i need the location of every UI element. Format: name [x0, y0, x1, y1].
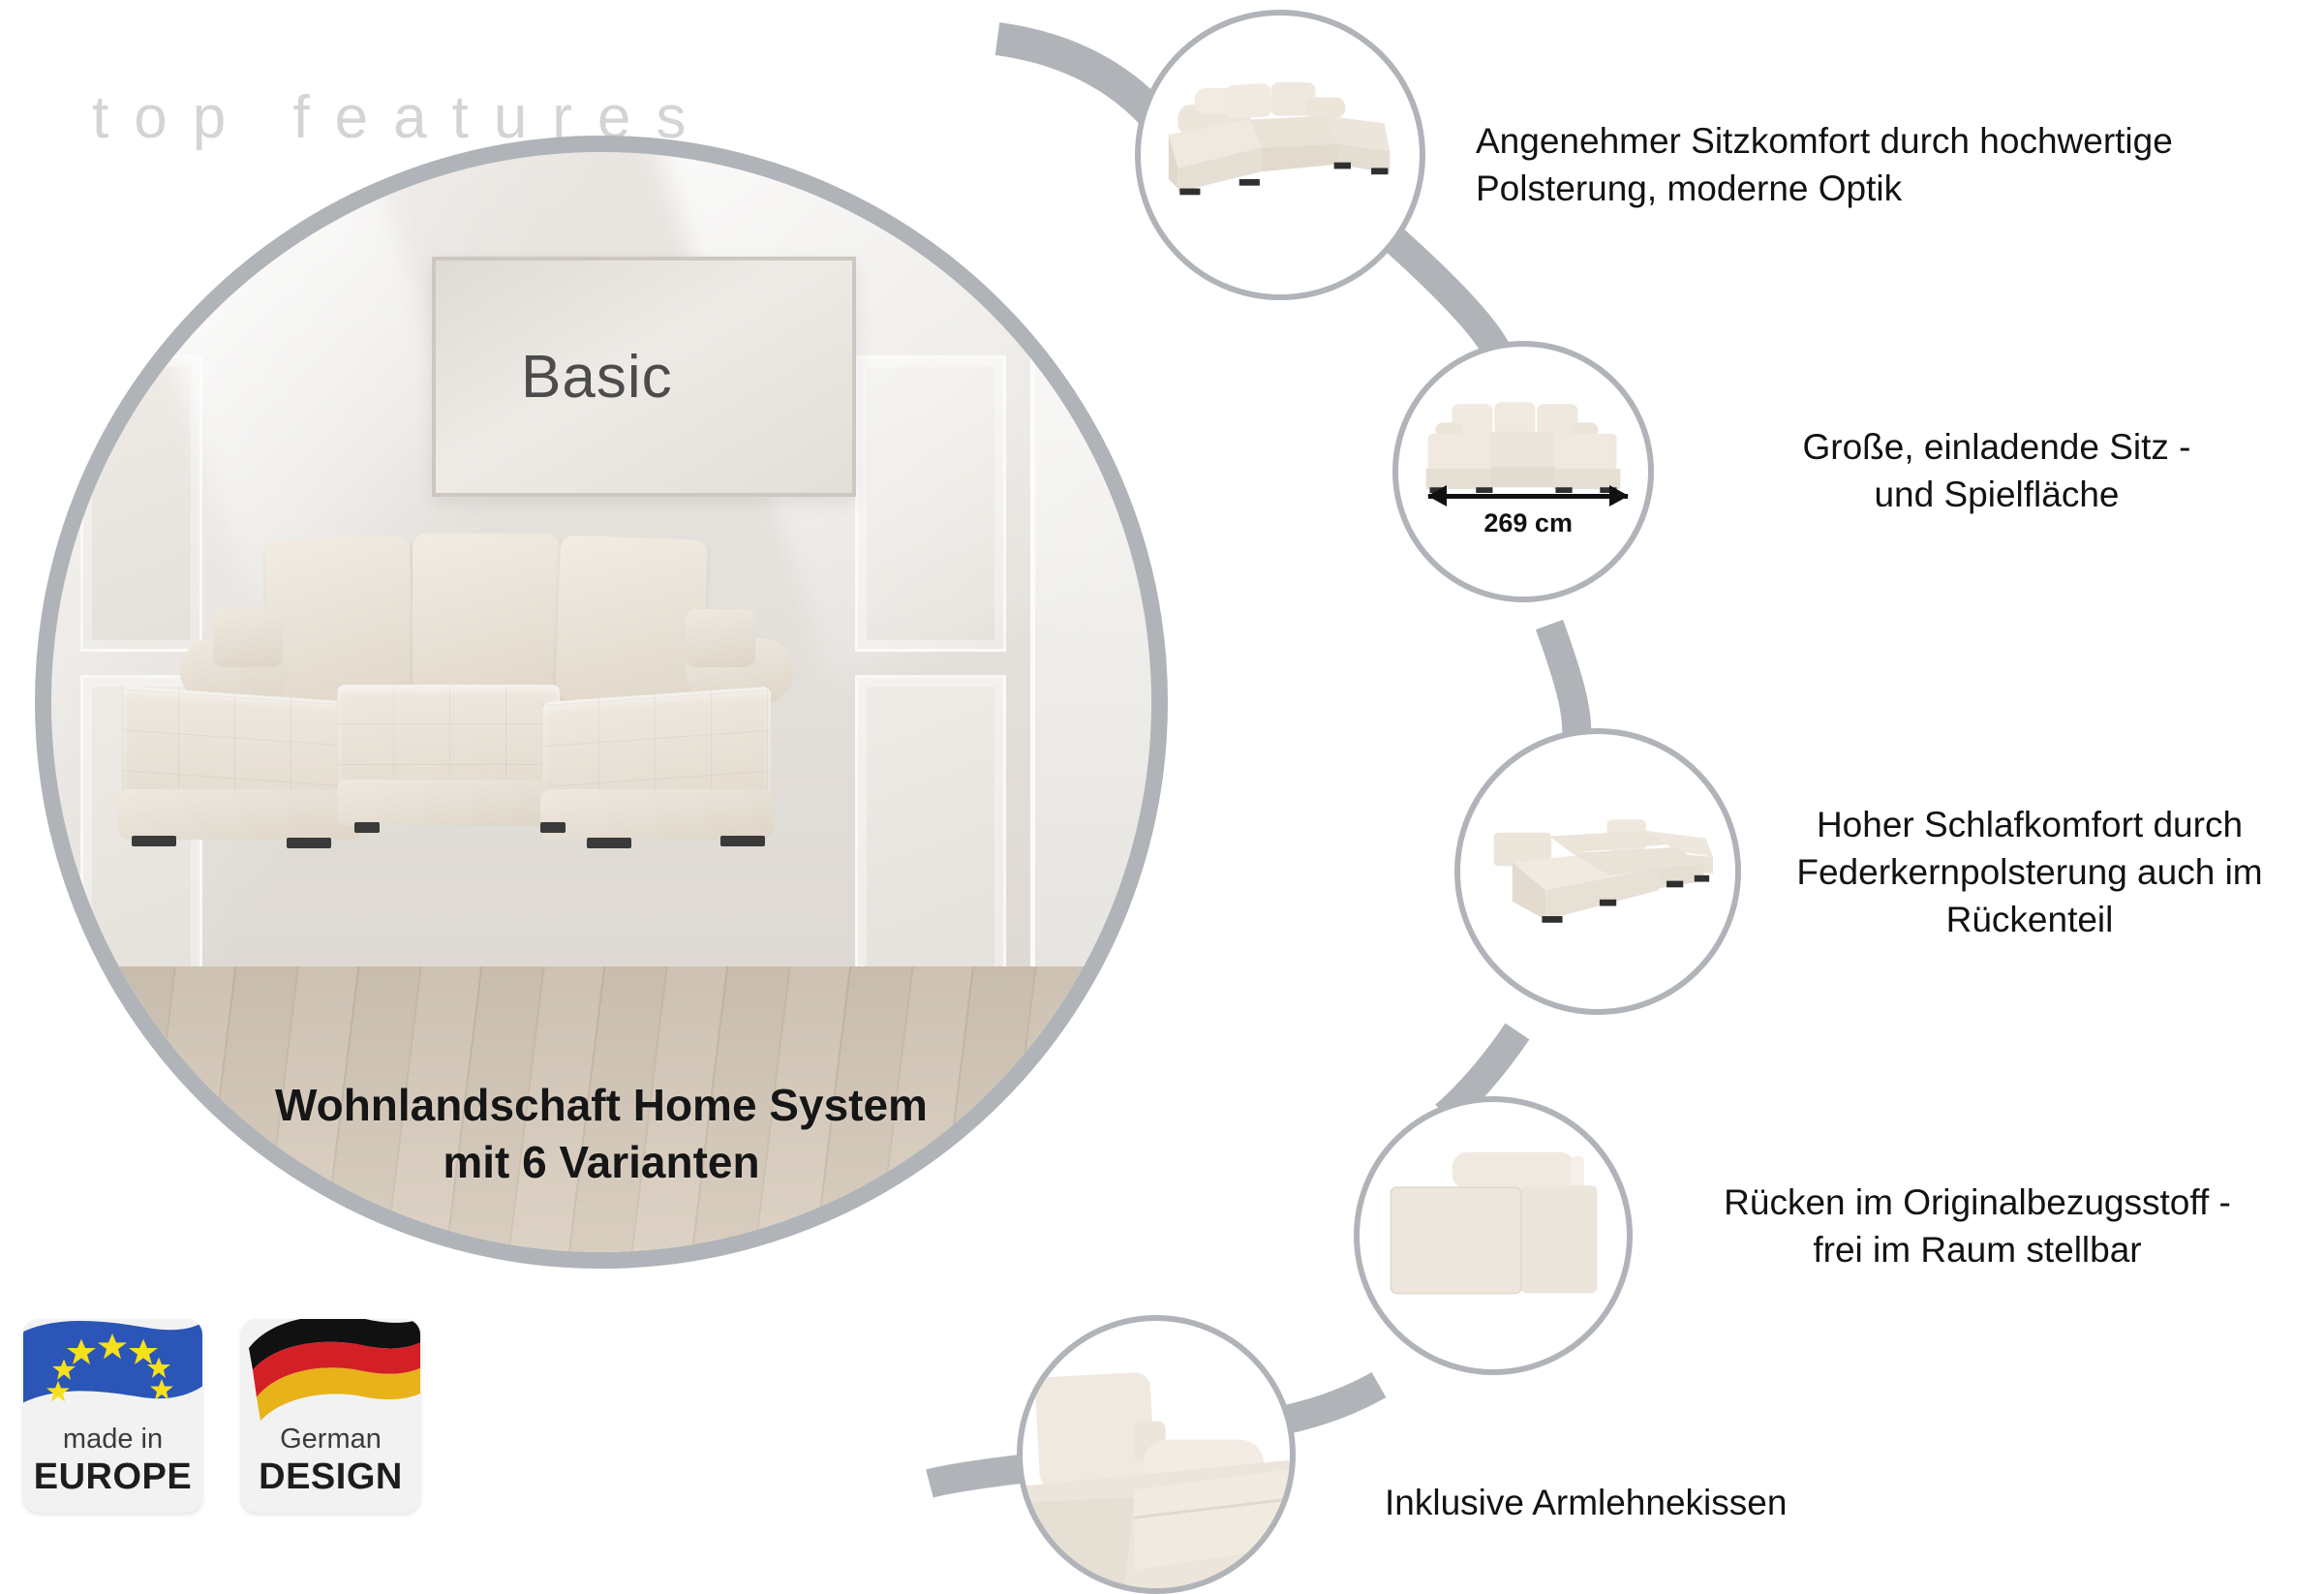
sofa-front-view-thumb: [1398, 347, 1648, 597]
feature-text-schlafkomfort: Hoher Schlafkomfort durch Federkernpolst…: [1749, 802, 2310, 943]
badge-line-1: made in: [23, 1424, 202, 1456]
sofa-foot: [132, 836, 176, 846]
de-flag-icon: [241, 1319, 420, 1424]
sofa-foot: [354, 822, 380, 833]
sofa-base: [540, 789, 773, 840]
feature-circle-sitzflaeche[interactable]: 269 cm: [1392, 341, 1654, 602]
hero-title-line-2: mit 6 Varianten: [51, 1134, 1151, 1191]
sofa-u-shape-angled-thumb: [1141, 15, 1420, 294]
certification-badges: made in EUROPE German DESIGN: [23, 1319, 420, 1513]
wall-panel: [855, 675, 1006, 1000]
dimension-label: 269 cm: [1428, 508, 1628, 538]
hero-product-title: Wohnlandschaft Home System mit 6 Variant…: [51, 1077, 1151, 1191]
feature-circle-armlehnekissen[interactable]: [1017, 1315, 1296, 1594]
art-label: Basic: [521, 343, 673, 412]
badge-line-2: DESIGN: [241, 1456, 420, 1498]
hero-scene: Basic: [51, 152, 1151, 1252]
connector-2-3: [1549, 625, 1576, 738]
sofa-foot: [587, 838, 631, 848]
sofa-base: [337, 780, 558, 826]
badge-made-in-europe: made in EUROPE: [23, 1319, 202, 1513]
feature-circle-sitzkomfort[interactable]: [1135, 10, 1425, 300]
arm-rest: [686, 609, 755, 667]
feature-text-sitzflaeche: Große, einladende Sitz - und Spielfläche: [1697, 424, 2297, 519]
dimension-arrow-icon: [1428, 494, 1628, 499]
wall-art-frame: Basic: [432, 257, 856, 497]
back-cushion: [413, 534, 560, 700]
sofa-foot: [287, 838, 331, 848]
hero-sofa: [105, 530, 763, 849]
feature-text-sitzkomfort: Angenehmer Sitzkomfort durch hochwertige…: [1476, 118, 2289, 213]
badge-line-1: German: [241, 1424, 420, 1456]
sofa-bed-extended-thumb: [1460, 734, 1735, 1009]
feature-text-ruecken: Rücken im Originalbezugsstoff - frei im …: [1658, 1180, 2297, 1274]
badge-line-2: EUROPE: [23, 1456, 202, 1498]
sofa-foot: [540, 822, 566, 833]
badge-german-design: German DESIGN: [241, 1319, 420, 1513]
feature-circle-ruecken[interactable]: [1354, 1096, 1633, 1375]
poster-canvas: top features Basic: [0, 0, 2324, 1593]
sofa-foot: [720, 836, 765, 846]
sofa-armrest-cushion-thumb: [1023, 1321, 1290, 1588]
dimension-annotation: 269 cm: [1428, 494, 1628, 538]
feature-text-armlehnekissen: Inklusive Armlehnekissen: [1385, 1480, 2063, 1527]
sofa-back-view-thumb: [1360, 1102, 1627, 1369]
hero-title-line-1: Wohnlandschaft Home System: [51, 1077, 1151, 1134]
sofa-base: [118, 789, 362, 840]
feature-circle-schlafkomfort[interactable]: [1454, 728, 1741, 1015]
arm-rest: [213, 609, 283, 667]
eu-flag-icon: [23, 1319, 202, 1424]
hero-product-circle: Basic: [35, 136, 1168, 1269]
